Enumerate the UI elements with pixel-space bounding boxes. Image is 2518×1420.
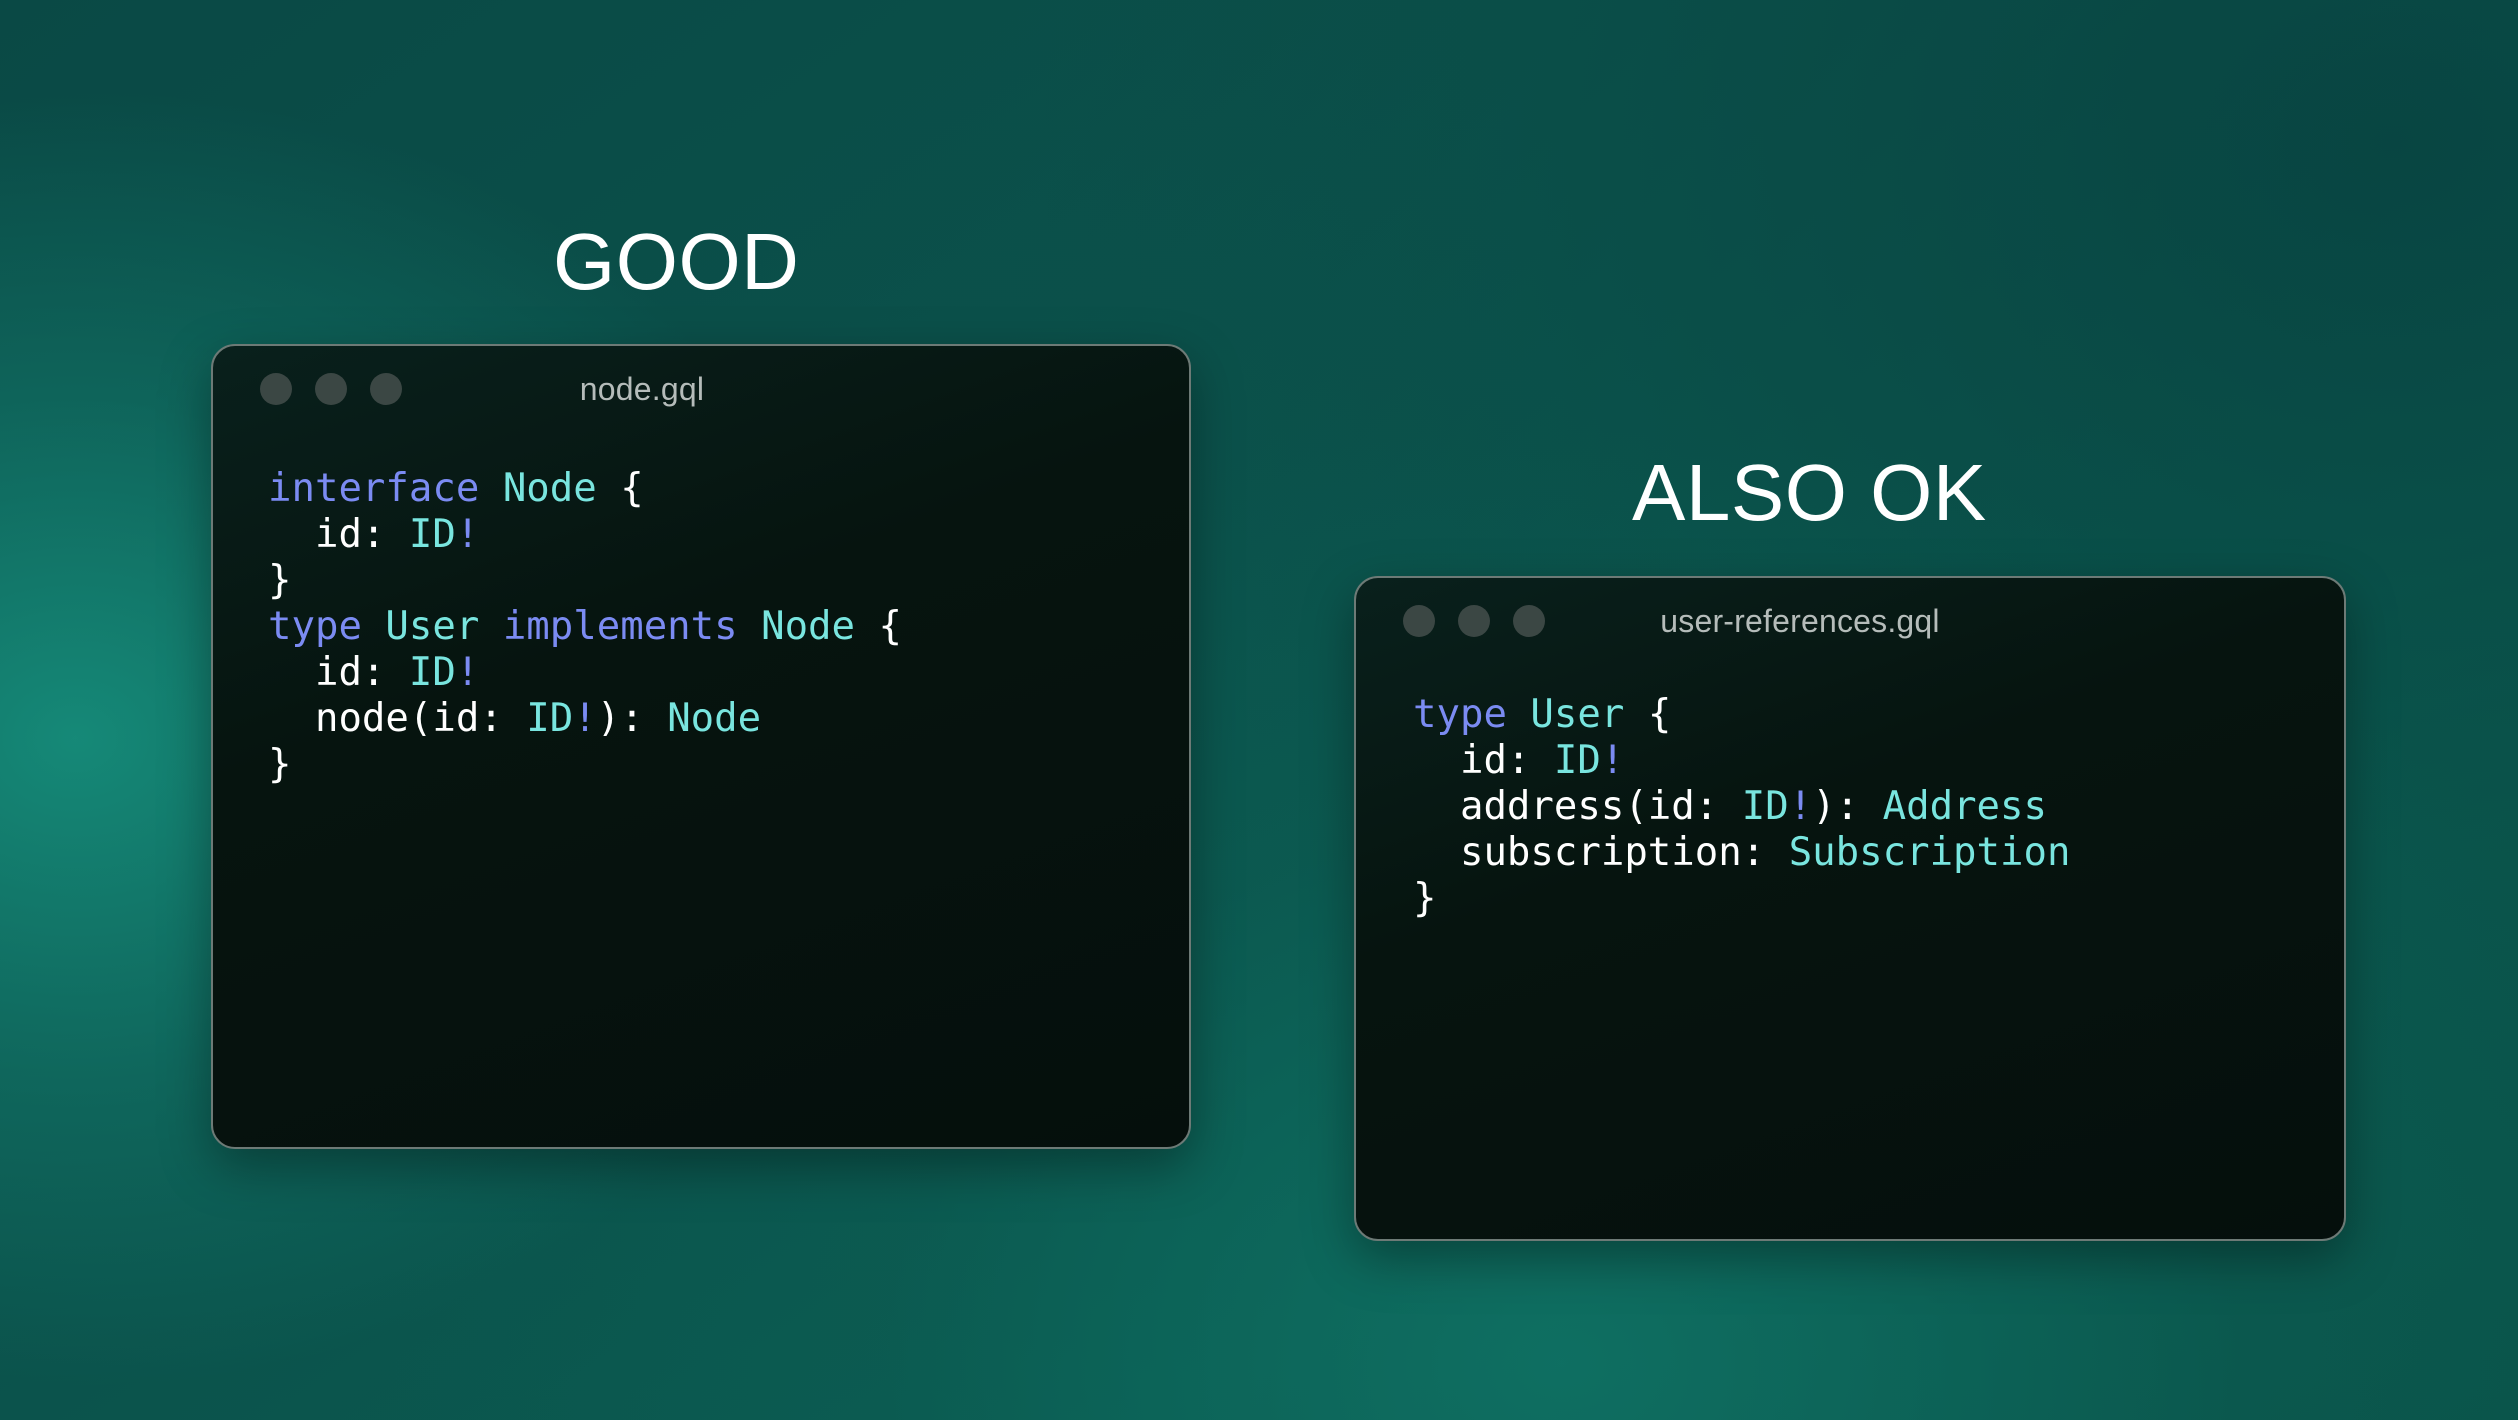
code-line: node(id: ID!): Node bbox=[268, 696, 1189, 742]
panel-heading-also-ok: ALSO OK bbox=[1632, 453, 1987, 533]
code-token-kw: implements bbox=[503, 604, 761, 649]
window-titlebar: user-references.gql bbox=[1356, 578, 2344, 664]
code-token-type: Address bbox=[1883, 784, 2047, 829]
code-token-type: ID bbox=[409, 512, 456, 557]
code-token-punc: { bbox=[879, 604, 902, 649]
code-token-bang: ! bbox=[1789, 784, 1812, 829]
window-maximize-dot-icon[interactable] bbox=[1513, 605, 1545, 637]
code-token-name: id: bbox=[268, 650, 409, 695]
code-line: id: ID! bbox=[268, 512, 1189, 558]
code-token-type: ID bbox=[409, 650, 456, 695]
code-token-type: Node bbox=[761, 604, 878, 649]
code-token-bang: ! bbox=[1601, 738, 1624, 783]
code-line: address(id: ID!): Address bbox=[1413, 784, 2344, 830]
code-token-type: Node bbox=[667, 696, 761, 741]
code-window-node-gql[interactable]: node.gql interface Node { id: ID!}type U… bbox=[211, 344, 1191, 1149]
code-token-punc: } bbox=[268, 558, 291, 603]
window-maximize-dot-icon[interactable] bbox=[370, 373, 402, 405]
traffic-light-group bbox=[1403, 605, 1545, 637]
window-close-dot-icon[interactable] bbox=[1403, 605, 1435, 637]
code-line: } bbox=[268, 558, 1189, 604]
code-token-name: address(id: bbox=[1413, 784, 1742, 829]
code-line: interface Node { bbox=[268, 466, 1189, 512]
code-token-punc: { bbox=[620, 466, 643, 511]
code-line: id: ID! bbox=[268, 650, 1189, 696]
code-token-punc: } bbox=[268, 742, 291, 787]
code-editor-content[interactable]: interface Node { id: ID!}type User imple… bbox=[213, 432, 1189, 788]
code-line: id: ID! bbox=[1413, 738, 2344, 784]
code-token-kw: interface bbox=[268, 466, 503, 511]
code-token-bang: ! bbox=[573, 696, 596, 741]
code-line: subscription: Subscription bbox=[1413, 830, 2344, 876]
panel-heading-good: GOOD bbox=[553, 222, 799, 302]
code-line: } bbox=[1413, 876, 2344, 922]
code-line: type User { bbox=[1413, 692, 2344, 738]
code-token-type: User bbox=[385, 604, 502, 649]
code-token-kw: type bbox=[1413, 692, 1530, 737]
code-token-name: subscription: bbox=[1413, 830, 1789, 875]
code-line: type User implements Node { bbox=[268, 604, 1189, 650]
code-token-bang: ! bbox=[456, 650, 479, 695]
code-token-kw: type bbox=[268, 604, 385, 649]
window-close-dot-icon[interactable] bbox=[260, 373, 292, 405]
code-token-name: ): bbox=[597, 696, 667, 741]
code-editor-content[interactable]: type User { id: ID! address(id: ID!): Ad… bbox=[1356, 664, 2344, 922]
window-titlebar: node.gql bbox=[213, 346, 1189, 432]
window-minimize-dot-icon[interactable] bbox=[1458, 605, 1490, 637]
code-token-type: ID bbox=[1742, 784, 1789, 829]
code-token-punc: { bbox=[1648, 692, 1671, 737]
code-token-type: User bbox=[1530, 692, 1647, 737]
code-token-name: ): bbox=[1812, 784, 1882, 829]
window-minimize-dot-icon[interactable] bbox=[315, 373, 347, 405]
code-token-bang: ! bbox=[456, 512, 479, 557]
code-window-user-references-gql[interactable]: user-references.gql type User { id: ID! … bbox=[1354, 576, 2346, 1241]
code-token-name: node(id: bbox=[268, 696, 526, 741]
traffic-light-group bbox=[260, 373, 402, 405]
code-token-type: Subscription bbox=[1789, 830, 2071, 875]
code-token-name: id: bbox=[268, 512, 409, 557]
code-token-type: ID bbox=[1554, 738, 1601, 783]
code-token-type: Node bbox=[503, 466, 620, 511]
code-token-punc: } bbox=[1413, 876, 1436, 921]
code-token-name: id: bbox=[1413, 738, 1554, 783]
code-line: } bbox=[268, 742, 1189, 788]
code-token-type: ID bbox=[526, 696, 573, 741]
